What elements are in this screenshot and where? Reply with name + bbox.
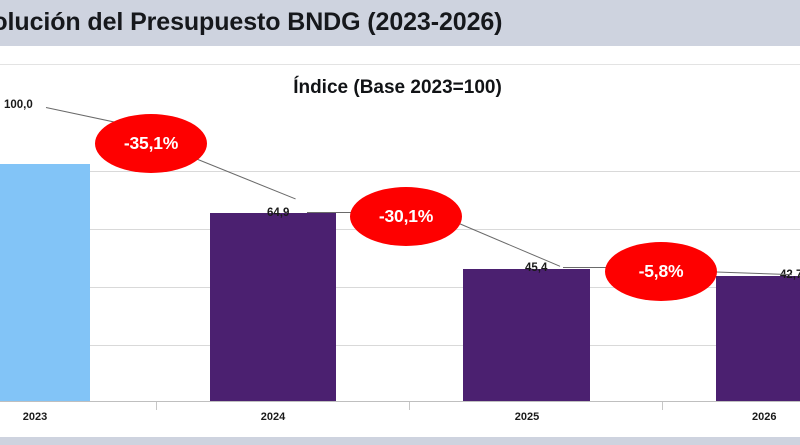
slide-header-band: Evolución del Presupuesto BNDG (2023-202…	[0, 0, 800, 46]
category-label-2025: 2025	[492, 411, 562, 423]
axis-tick	[409, 402, 410, 410]
bar-2026[interactable]	[716, 276, 800, 401]
value-label-2025: 45,4	[525, 262, 547, 274]
axis-tick	[662, 402, 663, 410]
bar-2024[interactable]	[210, 213, 336, 401]
category-label-2024: 2024	[238, 411, 308, 423]
annotation-bubble-2025-2026[interactable]: -5,8%	[605, 242, 717, 301]
value-label-2024: 64,9	[267, 207, 289, 219]
category-label-2023: 2023	[0, 411, 80, 423]
category-label-2026: 2026	[752, 411, 800, 423]
slide-footer-band	[0, 437, 800, 445]
bar-2023[interactable]	[0, 164, 90, 401]
chart-title: Índice (Base 2023=100)	[0, 77, 800, 99]
annotation-bubble-2023-2024[interactable]: -35,1%	[95, 114, 207, 173]
slide-title: Evolución del Presupuesto BNDG (2023-202…	[0, 7, 522, 38]
annotation-bubble-2024-2025[interactable]: -30,1%	[350, 187, 462, 246]
axis-tick	[156, 402, 157, 410]
gridline	[0, 171, 800, 172]
gridline	[0, 345, 800, 346]
chart-container: Índice (Base 2023=100) 100,0 64,9 45,4 4…	[0, 64, 800, 431]
value-label-2023: 100,0	[4, 99, 33, 111]
bar-2025[interactable]	[463, 269, 590, 401]
slide-canvas: Evolución del Presupuesto BNDG (2023-202…	[0, 0, 800, 445]
axis-baseline	[0, 401, 800, 402]
